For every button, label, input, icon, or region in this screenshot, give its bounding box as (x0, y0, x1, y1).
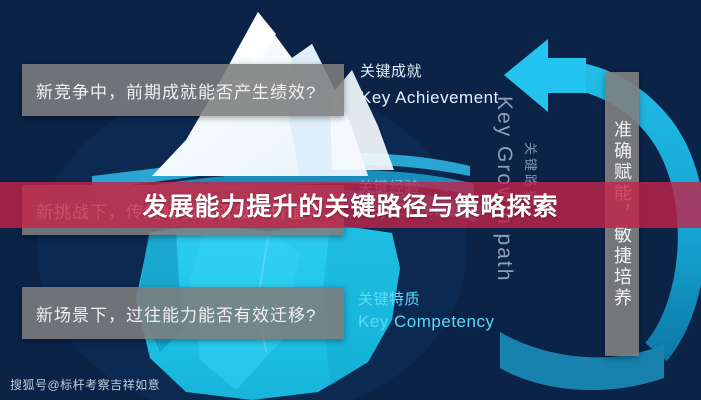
infographic-canvas: 关键成就 Key Achievement 关键经验 Key Experience… (0, 0, 701, 400)
label-key-competency-en: Key Competency (358, 312, 494, 332)
title-overlay-band: 发展能力提升的关键路径与策略探索 (0, 182, 701, 228)
caption-top-text: 新竞争中，前期成就能否产生绩效? (36, 78, 316, 103)
label-key-competency-cn: 关键特质 (358, 288, 420, 309)
caption-box-bottom: 新场景下，过往能力能否有效迁移? (22, 287, 344, 339)
page-title: 发展能力提升的关键路径与策略探索 (142, 187, 558, 223)
label-key-achievement-en: Key Achievement (360, 88, 499, 108)
caption-box-top: 新竞争中，前期成就能否产生绩效? (22, 64, 344, 116)
watermark-text: 搜狐号@标杆考察吉祥如意 (10, 376, 160, 393)
caption-bottom-text: 新场景下，过往能力能否有效迁移? (36, 301, 316, 326)
label-key-achievement-cn: 关键成就 (360, 60, 422, 81)
